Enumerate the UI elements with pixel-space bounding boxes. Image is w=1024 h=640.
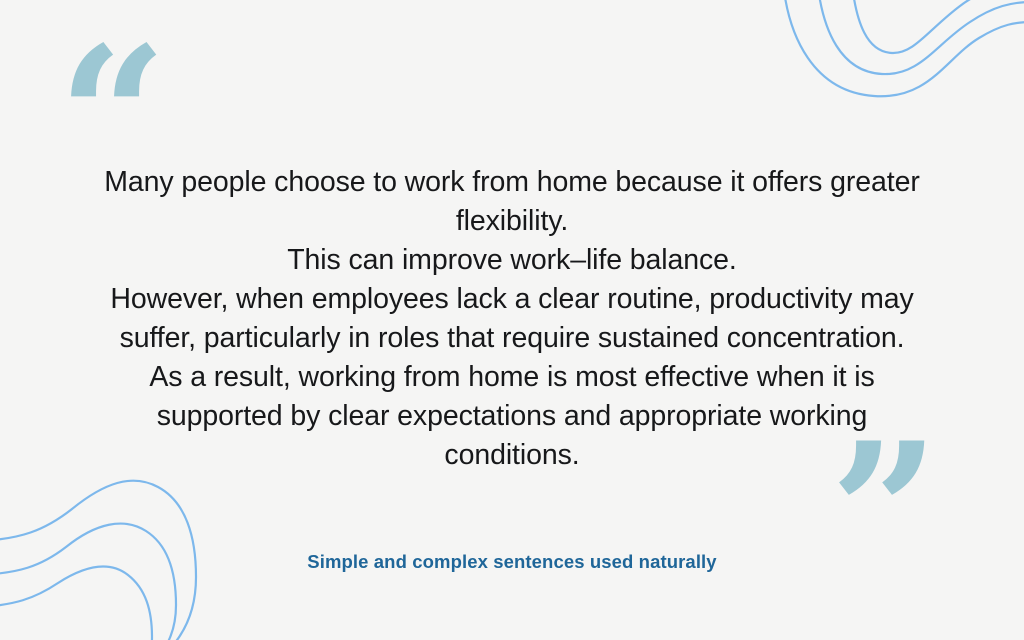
caption-label: Simple and complex sentences used natura… xyxy=(82,550,942,574)
quote-slide: “ Many people choose to work from home b… xyxy=(0,0,1024,640)
quote-line: As a result, working from home is most e… xyxy=(62,358,962,397)
quote-line: flexibility. xyxy=(62,202,962,241)
quote-line: suffer, particularly in roles that requi… xyxy=(62,319,962,358)
quote-line: Many people choose to work from home bec… xyxy=(62,163,962,202)
quote-text: Many people choose to work from home bec… xyxy=(62,163,962,475)
quote-line: This can improve work–life balance. xyxy=(62,241,962,280)
closing-quote-icon: ” xyxy=(830,418,939,608)
quote-line: However, when employees lack a clear rou… xyxy=(62,280,962,319)
quote-line: supported by clear expectations and appr… xyxy=(62,397,962,436)
quote-line: conditions. xyxy=(62,436,962,475)
wave-lines-top-right-icon xyxy=(764,0,1024,150)
